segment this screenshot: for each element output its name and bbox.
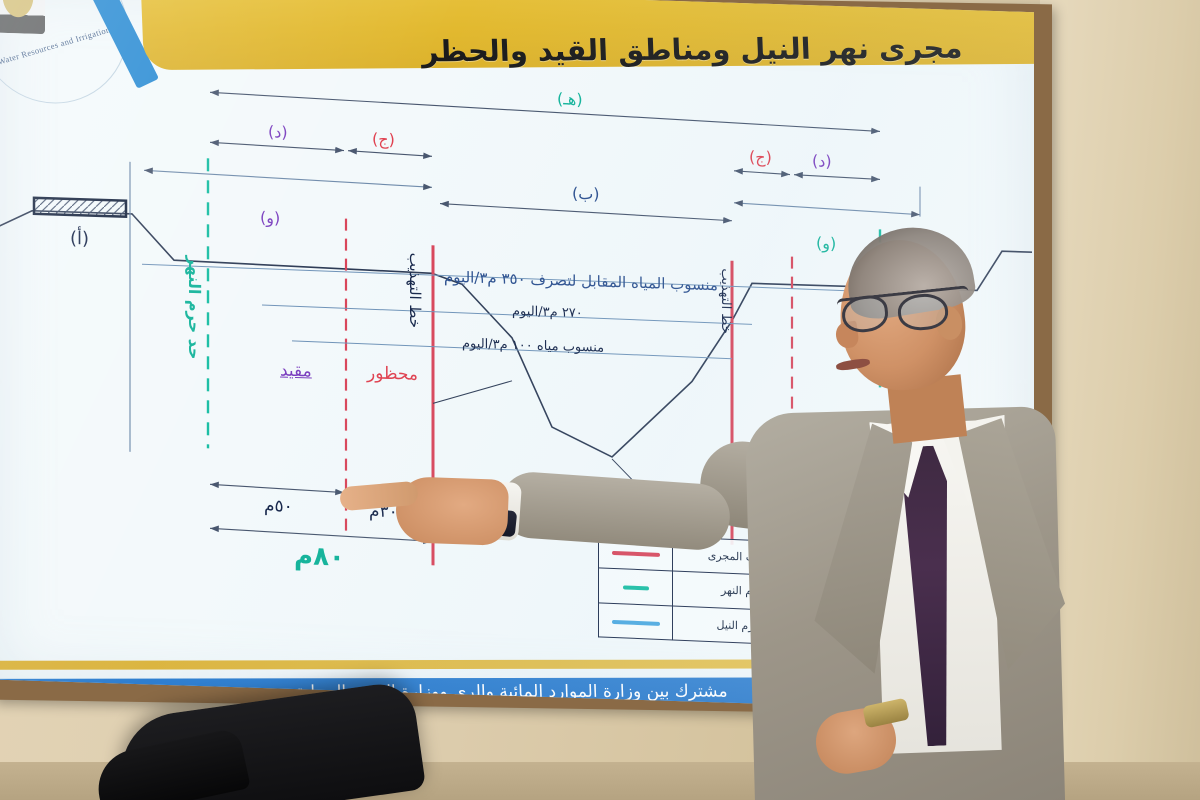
dim-50m xyxy=(210,484,344,492)
dim-restricted-left xyxy=(210,142,344,150)
right-wall xyxy=(1040,0,1200,800)
zone-label-total: (هـ) xyxy=(557,89,583,109)
zone-label-road: (أ) xyxy=(70,228,89,250)
water-level-label-270: ٢٧٠ م٣/اليوم xyxy=(512,304,583,321)
zone-label-banned-right: (ج) xyxy=(749,147,772,167)
zone-label-sanctity-left: (و) xyxy=(260,208,280,228)
vertical-label-river-boundary: حد حرم النهر xyxy=(185,256,204,360)
dim-restricted-right xyxy=(794,175,880,180)
vertical-label-dressing-line-left: خط التهذيب xyxy=(406,252,424,328)
slide-title: مجرى نهر النيل ومناطق القيد والحظر xyxy=(371,21,1013,77)
dim-80m xyxy=(210,528,432,541)
road-slab xyxy=(34,198,126,217)
dim-total-e xyxy=(210,92,880,131)
dim-text-50m: ٥٠م xyxy=(264,496,293,517)
zone-label-channel: (ب) xyxy=(572,184,600,204)
zone-label-restricted-left: (د) xyxy=(268,122,288,142)
dim-sanctity-left xyxy=(144,170,432,187)
dim-banned-left xyxy=(348,151,432,157)
zone-name-restricted: مقيد xyxy=(280,361,312,382)
dim-text-80m: ٨٠م xyxy=(294,541,345,573)
dim-banned-right xyxy=(734,171,790,175)
eagle-emblem-icon xyxy=(0,0,45,34)
presenter xyxy=(640,210,1060,800)
zone-label-restricted-right: (د) xyxy=(812,151,832,171)
zone-label-banned-left: (ج) xyxy=(372,129,395,149)
zone-name-banned: محظور xyxy=(367,363,418,385)
